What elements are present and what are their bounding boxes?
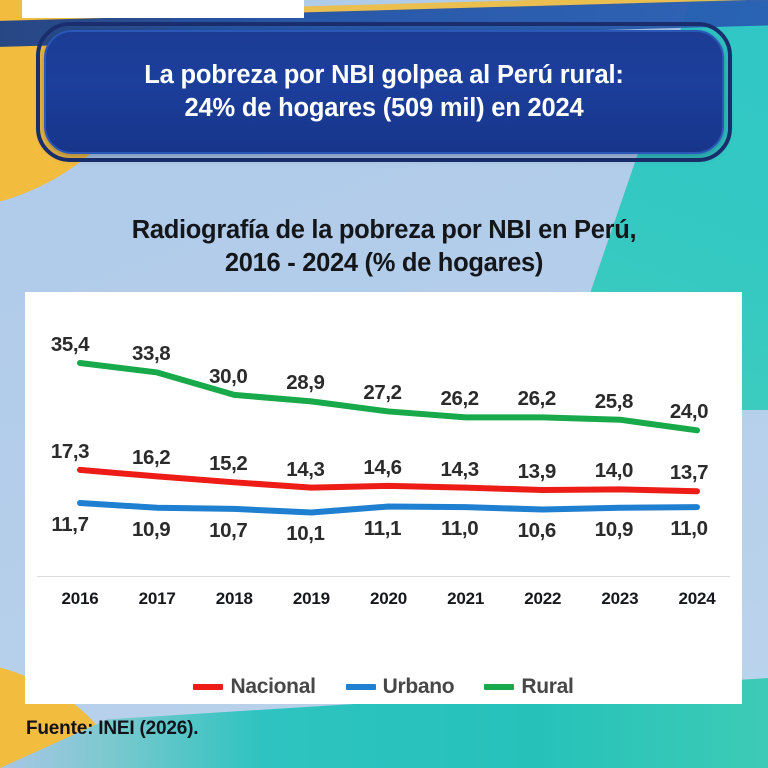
x-axis-label-2020: 2020 bbox=[370, 589, 407, 609]
value-label-nacional-2021: 14,3 bbox=[440, 458, 478, 482]
headline-text: La pobreza por NBI golpea al Perú rural:… bbox=[130, 59, 637, 124]
value-label-rural-2023: 25,8 bbox=[595, 390, 633, 414]
chart-title: Radiografía de la pobreza por NBI en Per… bbox=[34, 214, 734, 280]
chart-plot-area bbox=[25, 292, 742, 592]
x-axis-label-2019: 2019 bbox=[293, 589, 330, 609]
value-label-nacional-2019: 14,3 bbox=[286, 458, 324, 482]
infographic-root: La pobreza por NBI golpea al Perú rural:… bbox=[0, 0, 768, 768]
chart-panel: 201620172018201920202021202220232024 17,… bbox=[25, 292, 742, 704]
legend-swatch-icon bbox=[346, 684, 376, 690]
value-label-nacional-2018: 15,2 bbox=[209, 452, 247, 476]
legend-item-rural[interactable]: Rural bbox=[484, 675, 573, 699]
x-axis-label-2022: 2022 bbox=[524, 589, 561, 609]
chart-title-line-2: 2016 - 2024 (% de hogares) bbox=[225, 249, 543, 277]
value-label-nacional-2020: 14,6 bbox=[363, 456, 401, 480]
legend-swatch-icon bbox=[484, 684, 514, 690]
chart-lines-svg bbox=[25, 292, 742, 592]
value-label-rural-2019: 28,9 bbox=[286, 371, 324, 395]
value-label-nacional-2017: 16,2 bbox=[132, 446, 170, 470]
value-label-rural-2017: 33,8 bbox=[132, 342, 170, 366]
chart-title-line-1: Radiografía de la pobreza por NBI en Per… bbox=[132, 216, 637, 244]
legend-item-urbano[interactable]: Urbano bbox=[346, 675, 455, 699]
value-label-urbano-2020: 11,1 bbox=[364, 517, 401, 541]
x-axis-line bbox=[37, 576, 730, 577]
value-label-urbano-2017: 10,9 bbox=[132, 518, 170, 542]
value-label-nacional-2024: 13,7 bbox=[670, 461, 708, 485]
x-axis-label-2017: 2017 bbox=[139, 589, 176, 609]
value-label-rural-2022: 26,2 bbox=[518, 387, 556, 411]
headline-line-2: 24% de hogares (509 mil) en 2024 bbox=[185, 94, 584, 122]
x-axis-label-2023: 2023 bbox=[601, 589, 638, 609]
value-label-rural-2021: 26,2 bbox=[440, 387, 478, 411]
background-white-strip-top bbox=[22, 0, 304, 18]
source-note: Fuente: INEI (2026). bbox=[26, 718, 198, 740]
value-label-nacional-2023: 14,0 bbox=[595, 459, 633, 483]
x-axis-label-2021: 2021 bbox=[447, 589, 484, 609]
series-line-urbano bbox=[80, 503, 697, 512]
legend-label: Urbano bbox=[383, 675, 455, 699]
value-label-urbano-2019: 10,1 bbox=[286, 522, 324, 546]
value-label-rural-2018: 30,0 bbox=[209, 365, 247, 389]
x-axis-label-2016: 2016 bbox=[61, 589, 98, 609]
legend-item-nacional[interactable]: Nacional bbox=[193, 675, 315, 699]
headline-banner: La pobreza por NBI golpea al Perú rural:… bbox=[44, 30, 724, 154]
legend-label: Rural bbox=[521, 675, 573, 699]
value-label-nacional-2016: 17,3 bbox=[51, 440, 89, 464]
chart-legend: NacionalUrbanoRural bbox=[25, 670, 742, 704]
legend-label: Nacional bbox=[230, 675, 315, 699]
value-label-urbano-2023: 10,9 bbox=[595, 518, 633, 542]
value-label-urbano-2018: 10,7 bbox=[209, 519, 247, 543]
value-label-rural-2020: 27,2 bbox=[363, 381, 401, 405]
x-axis-year-labels: 201620172018201920202021202220232024 bbox=[25, 589, 742, 617]
value-label-rural-2024: 24,0 bbox=[670, 400, 708, 424]
value-label-urbano-2022: 10,6 bbox=[518, 519, 556, 543]
x-axis-label-2018: 2018 bbox=[216, 589, 253, 609]
value-label-nacional-2022: 13,9 bbox=[518, 460, 556, 484]
value-label-urbano-2021: 11,0 bbox=[441, 517, 478, 541]
value-label-rural-2016: 35,4 bbox=[51, 333, 89, 357]
value-label-urbano-2024: 11,0 bbox=[670, 517, 707, 541]
headline-line-1: La pobreza por NBI golpea al Perú rural: bbox=[144, 61, 623, 89]
legend-swatch-icon bbox=[193, 684, 223, 690]
x-axis-label-2024: 2024 bbox=[678, 589, 715, 609]
value-label-urbano-2016: 11,7 bbox=[51, 513, 88, 537]
